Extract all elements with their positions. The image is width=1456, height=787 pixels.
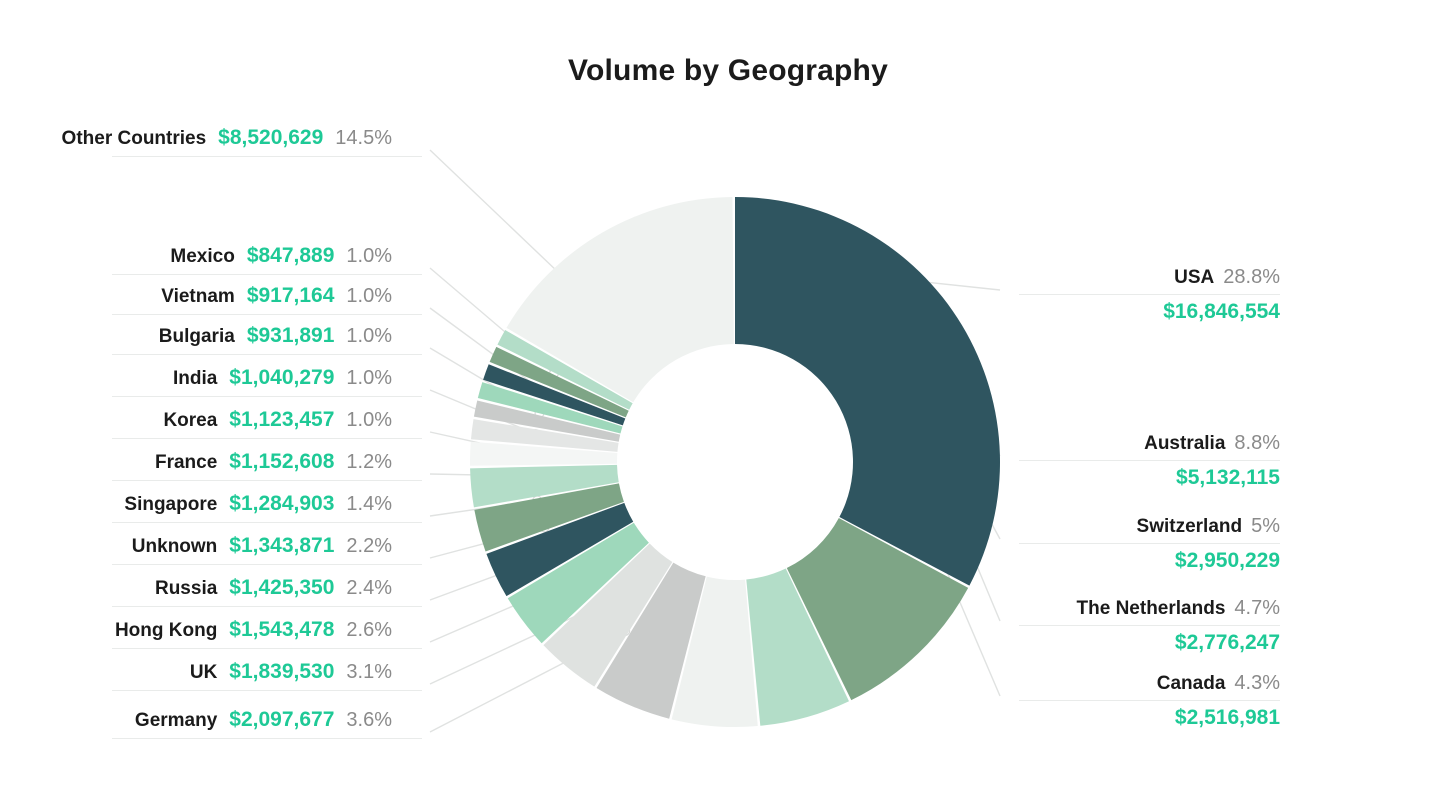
callout-value: $1,284,903 [229, 492, 334, 516]
callout-underline [1019, 700, 1280, 701]
callout-percent: 1.0% [346, 325, 392, 348]
callout-label-left[interactable]: Germany$2,097,6773.6% [0, 708, 392, 738]
callout-value: $1,123,457 [229, 408, 334, 432]
callout-underline [112, 274, 422, 275]
callout-header: Switzerland5% [960, 515, 1280, 538]
callout-country-name: Bulgaria [159, 326, 235, 348]
callout-label-left[interactable]: Other Countries$8,520,62914.5% [0, 126, 392, 156]
callout-percent: 28.8% [1223, 266, 1280, 288]
callout-underline [1019, 460, 1280, 461]
callout-value: $2,950,229 [960, 549, 1280, 573]
callout-percent: 4.7% [1234, 597, 1280, 619]
callout-country-name: Canada [1157, 673, 1226, 694]
callout-percent: 2.6% [346, 619, 392, 642]
callout-label-right[interactable]: Canada4.3%$2,516,981 [960, 672, 1280, 730]
callout-percent: 1.0% [346, 367, 392, 390]
callout-value: $1,543,478 [229, 618, 334, 642]
callout-percent: 2.2% [346, 535, 392, 558]
callout-percent: 2.4% [346, 577, 392, 600]
callout-underline [1019, 543, 1280, 544]
callout-percent: 8.8% [1234, 432, 1280, 454]
callout-header: Canada4.3% [960, 672, 1280, 695]
callout-value: $16,846,554 [960, 300, 1280, 324]
callout-underline [112, 564, 422, 565]
callout-value: $5,132,115 [960, 466, 1280, 490]
callout-value: $1,152,608 [229, 450, 334, 474]
callout-value: $2,097,677 [229, 708, 334, 732]
callout-label-left[interactable]: Unknown$1,343,8712.2% [0, 534, 392, 564]
callout-underline [1019, 625, 1280, 626]
callout-value: $1,839,530 [229, 660, 334, 684]
callout-country-name: UK [190, 662, 217, 684]
callout-value: $8,520,629 [218, 126, 323, 150]
callout-underline [112, 522, 422, 523]
callout-underline [112, 354, 422, 355]
callout-label-right[interactable]: USA28.8%$16,846,554 [960, 266, 1280, 324]
callout-country-name: Hong Kong [115, 620, 217, 642]
callout-percent: 14.5% [335, 127, 392, 150]
callout-percent: 3.6% [346, 709, 392, 732]
callout-label-left[interactable]: India$1,040,2791.0% [0, 366, 392, 396]
callout-percent: 5% [1251, 515, 1280, 537]
callout-label-right[interactable]: Switzerland5%$2,950,229 [960, 515, 1280, 573]
callout-underline [112, 396, 422, 397]
callout-value: $931,891 [247, 324, 335, 348]
callout-country-name: Unknown [132, 536, 218, 558]
callout-underline [1019, 294, 1280, 295]
callout-label-right[interactable]: The Netherlands4.7%$2,776,247 [960, 597, 1280, 655]
callout-value: $847,889 [247, 244, 335, 268]
callout-underline [112, 314, 422, 315]
callout-header: Australia8.8% [960, 432, 1280, 455]
callout-label-left[interactable]: Singapore$1,284,9031.4% [0, 492, 392, 522]
callout-country-name: Mexico [170, 246, 234, 268]
callout-underline [112, 480, 422, 481]
callout-percent: 4.3% [1234, 672, 1280, 694]
callout-country-name: India [173, 368, 217, 390]
callout-country-name: Russia [155, 578, 217, 600]
callout-label-left[interactable]: Bulgaria$931,8911.0% [0, 324, 392, 354]
callout-value: $1,425,350 [229, 576, 334, 600]
callout-underline [112, 648, 422, 649]
callout-country-name: The Netherlands [1077, 598, 1226, 619]
callout-header: The Netherlands4.7% [960, 597, 1280, 620]
callout-label-left[interactable]: Russia$1,425,3502.4% [0, 576, 392, 606]
callout-underline [112, 690, 422, 691]
callout-underline [112, 156, 422, 157]
callout-country-name: Singapore [124, 494, 217, 516]
callout-header: USA28.8% [960, 266, 1280, 289]
callout-percent: 1.4% [346, 493, 392, 516]
callout-label-left[interactable]: Mexico$847,8891.0% [0, 244, 392, 274]
callout-value: $917,164 [247, 284, 335, 308]
callout-country-name: Switzerland [1137, 516, 1243, 537]
callout-label-right[interactable]: Australia8.8%$5,132,115 [960, 432, 1280, 490]
callout-country-name: Vietnam [161, 286, 235, 308]
donut-chart: Volume by Geography Other Countries$8,52… [0, 0, 1456, 787]
callout-label-left[interactable]: Korea$1,123,4571.0% [0, 408, 392, 438]
callout-country-name: Korea [163, 410, 217, 432]
callout-value: $1,343,871 [229, 534, 334, 558]
callout-underline [112, 738, 422, 739]
callout-country-name: Other Countries [62, 128, 207, 150]
callout-percent: 1.0% [346, 285, 392, 308]
callout-country-name: France [155, 452, 217, 474]
callout-label-left[interactable]: Hong Kong$1,543,4782.6% [0, 618, 392, 648]
callout-percent: 3.1% [346, 661, 392, 684]
callout-percent: 1.2% [346, 451, 392, 474]
callout-underline [112, 606, 422, 607]
callout-country-name: Australia [1144, 433, 1225, 454]
callout-country-name: USA [1174, 267, 1214, 288]
callout-value: $2,776,247 [960, 631, 1280, 655]
callout-percent: 1.0% [346, 409, 392, 432]
callout-underline [112, 438, 422, 439]
callout-value: $1,040,279 [229, 366, 334, 390]
callout-value: $2,516,981 [960, 706, 1280, 730]
callout-label-left[interactable]: UK$1,839,5303.1% [0, 660, 392, 690]
callout-label-left[interactable]: France$1,152,6081.2% [0, 450, 392, 480]
callout-label-left[interactable]: Vietnam$917,1641.0% [0, 284, 392, 314]
callout-country-name: Germany [135, 710, 217, 732]
callout-percent: 1.0% [346, 245, 392, 268]
